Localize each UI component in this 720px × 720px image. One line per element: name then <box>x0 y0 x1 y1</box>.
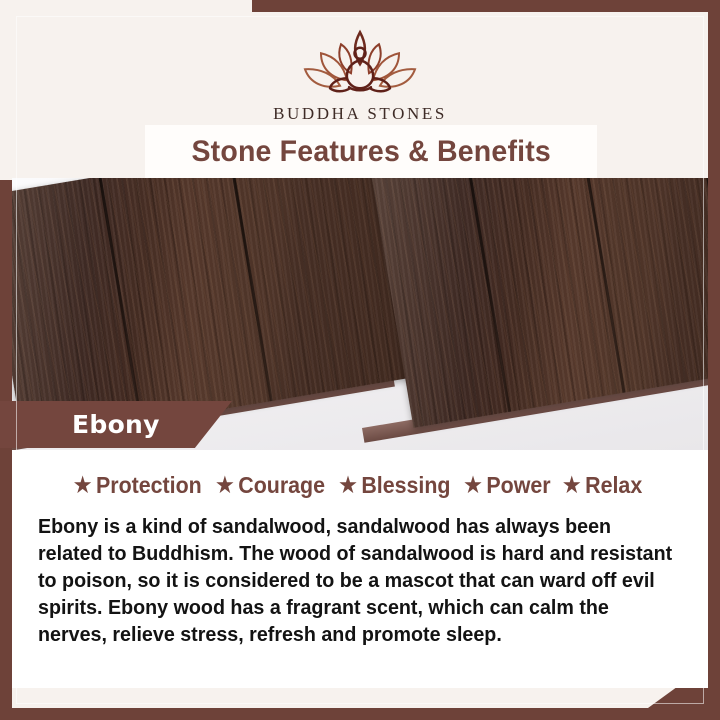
feature-item: ★ Protection <box>74 472 202 499</box>
stone-name-banner: Ebony <box>0 401 232 448</box>
stone-name-label: Ebony <box>72 410 160 439</box>
frame-border-left <box>0 180 12 720</box>
feature-label: Blessing <box>362 472 451 499</box>
lotus-meditation-icon <box>285 22 435 100</box>
star-icon: ★ <box>74 475 92 496</box>
star-icon: ★ <box>464 475 482 496</box>
feature-label: Relax <box>585 472 642 499</box>
feature-item: ★ Relax <box>563 472 642 499</box>
page-title: Stone Features & Benefits <box>191 135 551 169</box>
title-banner: Stone Features & Benefits <box>145 125 597 178</box>
feature-item: ★ Power <box>464 472 550 499</box>
frame-border-top <box>252 0 720 12</box>
frame-border-bottom <box>0 708 720 720</box>
brand-name: BUDDHA STONES <box>273 104 447 124</box>
feature-label: Protection <box>96 472 202 499</box>
frame-border-right <box>708 0 720 720</box>
poster-root: BUDDHA STONES Stone Features & Benefits … <box>0 0 720 720</box>
feature-item: ★ Courage <box>216 472 325 499</box>
feature-label: Courage <box>239 472 326 499</box>
content-card: ★ Protection ★ Courage ★ Blessing ★ Powe… <box>12 450 708 688</box>
feature-list: ★ Protection ★ Courage ★ Blessing ★ Powe… <box>38 472 682 499</box>
star-icon: ★ <box>340 475 358 496</box>
feature-label: Power <box>487 472 551 499</box>
stone-description: Ebony is a kind of sandalwood, sandalwoo… <box>38 513 681 648</box>
star-icon: ★ <box>563 475 581 496</box>
feature-item: ★ Blessing <box>340 472 451 499</box>
star-icon: ★ <box>216 475 234 496</box>
